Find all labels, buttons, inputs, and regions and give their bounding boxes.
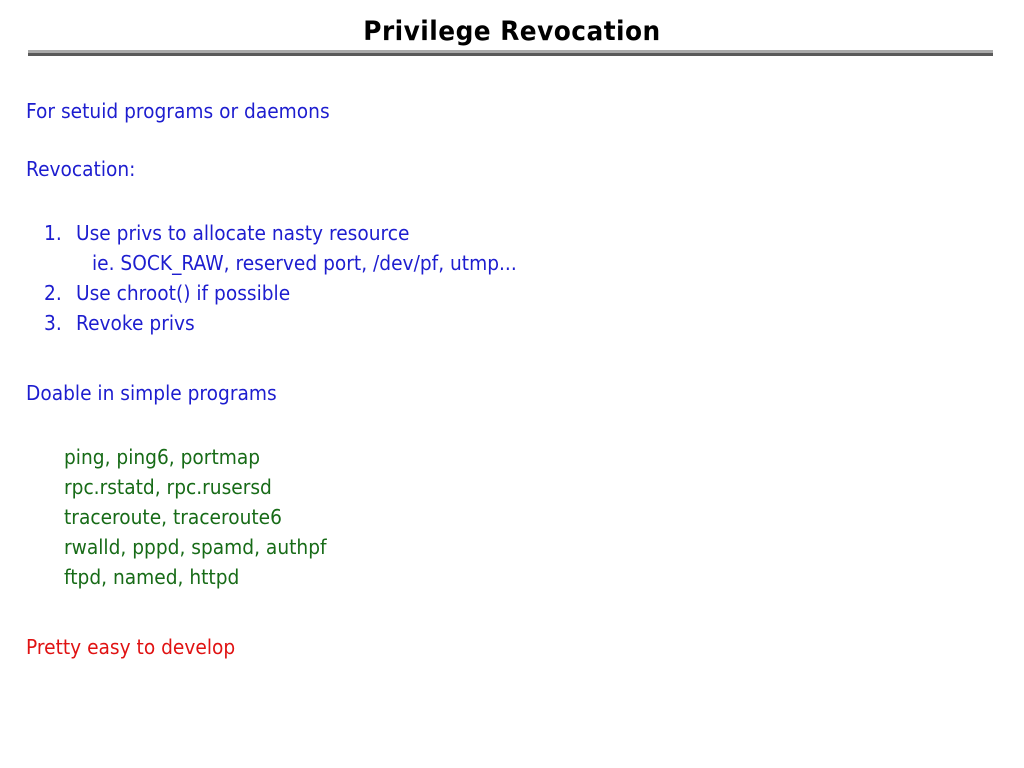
revocation-steps-list: 1. Use privs to allocate nasty resource … [26, 218, 996, 338]
step-marker: 2. [44, 278, 74, 308]
step-text: Revoke privs [76, 308, 195, 338]
step-text: Use privs to allocate nasty resource [76, 218, 409, 248]
list-item: rpc.rstatd, rpc.rusersd [64, 472, 931, 502]
list-item: ping, ping6, portmap [64, 442, 931, 472]
page-title: Privilege Revocation [41, 16, 983, 48]
slide-canvas: Privilege Revocation For setuid programs… [0, 0, 1024, 768]
spacer-before-steps [26, 184, 996, 218]
spacer-after-lead [26, 126, 996, 154]
lead-line: For setuid programs or daemons [26, 96, 928, 126]
program-examples-list: ping, ping6, portmap rpc.rstatd, rpc.rus… [64, 442, 996, 592]
title-divider [28, 50, 993, 56]
spacer-before-programs [26, 408, 996, 442]
section-label-revocation: Revocation: [26, 154, 928, 184]
step-1-detail: ie. SOCK_RAW, reserved port, /dev/pf, ut… [92, 248, 933, 278]
list-item: ftpd, named, httpd [64, 562, 931, 592]
slide-body: For setuid programs or daemons Revocatio… [26, 96, 996, 662]
step-marker: 1. [44, 218, 74, 248]
spacer-before-doable [26, 338, 996, 378]
step-text: Use chroot() if possible [76, 278, 290, 308]
list-item: traceroute, traceroute6 [64, 502, 931, 532]
spacer-before-closing [26, 592, 996, 632]
list-item: 2. Use chroot() if possible [26, 278, 996, 308]
doable-line: Doable in simple programs [26, 378, 928, 408]
list-item: 3. Revoke privs [26, 308, 996, 338]
step-marker: 3. [44, 308, 74, 338]
list-item: 1. Use privs to allocate nasty resource [26, 218, 996, 248]
divider-shadow-band [28, 53, 993, 56]
list-item: rwalld, pppd, spamd, authpf [64, 532, 931, 562]
closing-line: Pretty easy to develop [26, 632, 928, 662]
